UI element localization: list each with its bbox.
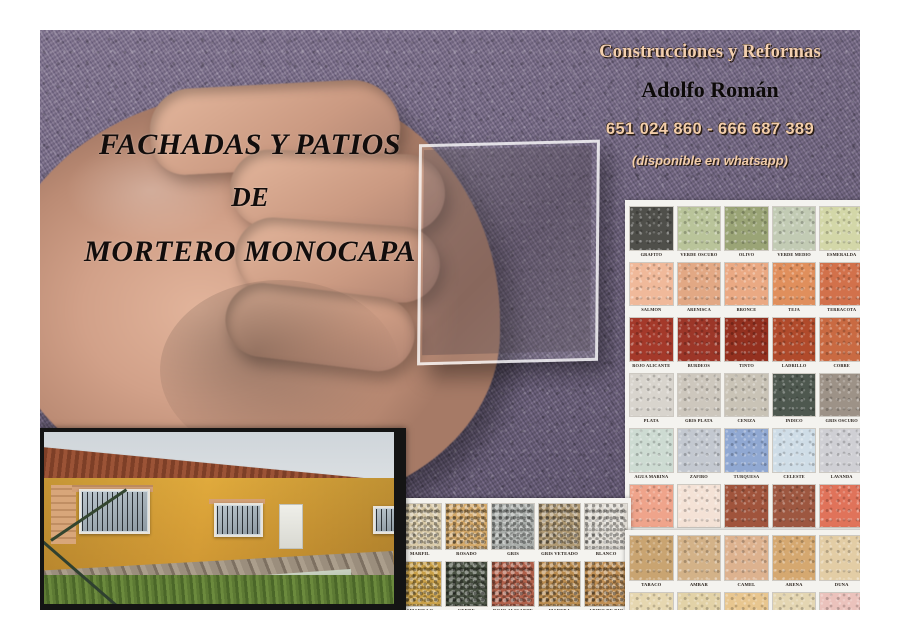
swatch-cell[interactable]: BRONCE [724,262,769,315]
color-swatch[interactable] [772,428,817,473]
color-swatch[interactable] [584,561,628,608]
swatch-cell[interactable]: VAINILLA [629,592,674,611]
swatch-label: ARIDO DE RIO [584,607,628,610]
swatch-label: TABACO [629,581,674,589]
swatch-row: PLATAGRIS PLATACENIZAINDICOGRIS OSCURO [629,373,860,426]
phone-numbers[interactable]: 651 024 860 - 666 687 389 [560,120,860,139]
color-swatch[interactable] [629,484,674,529]
color-swatch[interactable] [629,535,674,581]
swatch-cell[interactable]: INDICO [772,373,817,426]
swatch-cell[interactable]: SAHARA [724,592,769,611]
swatch-cell[interactable]: VERDE OSCURO [677,206,722,259]
swatch-cell[interactable]: VERDE MEDIO [772,206,817,259]
color-swatch[interactable] [677,428,722,473]
swatch-cell[interactable]: GRIS VETEADO [538,503,582,558]
color-swatch[interactable] [677,535,722,581]
color-swatch[interactable] [724,373,769,418]
color-swatch[interactable] [629,262,674,307]
swatch-row: MARFILROSADOGRISGRIS VETEADOBLANCO [398,503,628,558]
swatch-cell[interactable]: GRIS OSCURO [819,373,860,426]
color-swatch[interactable] [677,484,722,529]
sand-chart-grid: TABACOAMBARCAMELARENADUNAVAINILLAMARFILS… [629,535,860,610]
swatch-label: TINTO [724,362,769,370]
sand-chart-panel: TABACOAMBARCAMELARENADUNAVAINILLAMARFILS… [625,530,860,610]
swatch-cell[interactable]: ROSADO [677,484,722,537]
swatch-row: GRAFITOVERDE OSCUROOLIVOVERDE MEDIOESMER… [629,206,860,259]
swatch-cell[interactable]: GRANATE [724,484,769,537]
color-swatch[interactable] [819,262,860,307]
color-swatch[interactable] [491,561,535,608]
poster: FACHADAS Y PATIOS DE MORTERO MONOCAPA Co… [40,30,860,610]
color-swatch[interactable] [772,262,817,307]
color-swatch[interactable] [538,561,582,608]
swatch-label: TERRACOTA [819,306,860,314]
arid-chart-panel: MARFILROSADOGRISGRIS VETEADOBLANCOAMARIL… [395,498,631,610]
color-swatch[interactable] [772,592,817,611]
swatch-cell[interactable]: ESMERALDA [819,206,860,259]
swatch-label: ROJO ALICANTE [491,607,535,610]
swatch-label: CELESTE [772,473,817,481]
swatch-label: VERDE OSCURO [677,251,722,259]
company-owner-name: Adolfo Román [560,77,860,103]
swatch-label: BLANCO [584,550,628,558]
swatch-cell[interactable]: TEJA [772,262,817,315]
color-swatch[interactable] [772,373,817,418]
swatch-cell[interactable]: TINTO [724,317,769,370]
swatch-cell[interactable]: AGUA MARINA [629,428,674,481]
swatch-cell[interactable]: ROJO INGLES [772,484,817,537]
swatch-label: BRONCE [724,306,769,314]
color-swatch[interactable] [772,484,817,529]
swatch-label: ARENA [772,581,817,589]
contact-block: Construcciones y Reformas Adolfo Román 6… [560,42,860,168]
swatch-label: LAVANDA [819,473,860,481]
swatch-label: GRIS OSCURO [819,417,860,425]
swatch-label: ROSADO [445,550,489,558]
swatch-label: VERDE [445,607,489,610]
window [373,506,394,534]
swatch-label: PLATA [629,417,674,425]
swatch-label: ARENISCA [677,306,722,314]
swatch-label: TURQUESA [724,473,769,481]
color-swatch[interactable] [819,317,860,362]
swatch-cell[interactable]: VERDE [445,561,489,611]
swatch-cell[interactable]: CENIZA [724,373,769,426]
swatch-cell[interactable]: ROSA [819,592,860,611]
headline-line-1: FACHADAS Y PATIOS [50,130,450,160]
color-swatch[interactable] [677,317,722,362]
swatch-row: AMARILLOVERDEROJO ALICANTEMADERAARIDO DE… [398,561,628,611]
swatch-label: GRIS [491,550,535,558]
swatch-cell[interactable]: MARFIL [677,592,722,611]
color-swatch[interactable] [819,428,860,473]
swatch-cell[interactable]: GRAFITO [629,206,674,259]
color-swatch[interactable] [819,535,860,581]
color-swatch[interactable] [724,206,769,251]
swatch-cell[interactable]: ARIDO DE RIO [584,561,628,611]
color-swatch[interactable] [724,535,769,581]
color-swatch[interactable] [724,484,769,529]
whatsapp-note: (disponible en whatsapp) [560,153,860,168]
color-swatch[interactable] [772,317,817,362]
swatch-cell[interactable]: BURDEOS [677,317,722,370]
swatch-cell[interactable]: ARENISCA [677,262,722,315]
swatch-label: COBRE [819,362,860,370]
swatch-cell[interactable]: PIEDRA [772,592,817,611]
swatch-row: ROSAROSADOGRANATEROJO INGLESROJO [629,484,860,537]
swatch-row: TABACOAMBARCAMELARENADUNA [629,535,860,589]
swatch-cell[interactable]: ROJO ALICANTE [491,561,535,611]
swatch-label: VERDE MEDIO [772,251,817,259]
swatch-cell[interactable]: GRIS PLATA [677,373,722,426]
swatch-label: GRIS PLATA [677,417,722,425]
color-swatch[interactable] [677,206,722,251]
color-swatch[interactable] [629,373,674,418]
swatch-label: AGUA MARINA [629,473,674,481]
swatch-cell[interactable]: TERRACOTA [819,262,860,315]
swatch-cell[interactable]: GRIS [491,503,535,558]
swatch-label: SALMON [629,306,674,314]
door [279,504,304,549]
swatch-cell[interactable]: PLATA [629,373,674,426]
swatch-row: AGUA MARINAZAFIROTURQUESACELESTELAVANDA [629,428,860,481]
color-swatch[interactable] [445,503,489,550]
swatch-label: MADERA [538,607,582,610]
inset-photo-house [44,432,394,604]
company-tagline: Construcciones y Reformas [560,42,860,63]
swatch-cell[interactable]: ROJO ALICANTE [629,317,674,370]
color-swatch[interactable] [629,317,674,362]
swatch-label: GRIS VETEADO [538,550,582,558]
swatch-cell[interactable]: ARENA [772,535,817,589]
swatch-label: TEJA [772,306,817,314]
swatch-row: SALMONARENISCABRONCETEJATERRACOTA [629,262,860,315]
swatch-label: BURDEOS [677,362,722,370]
swatch-label: ROJO ALICANTE [629,362,674,370]
color-chart-grid: GRAFITOVERDE OSCUROOLIVOVERDE MEDIOESMER… [629,206,860,536]
headline-line-2: DE [50,184,450,211]
swatch-cell[interactable]: AMBAR [677,535,722,589]
swatch-cell[interactable]: TABACO [629,535,674,589]
arid-chart-grid: MARFILROSADOGRISGRIS VETEADOBLANCOAMARIL… [398,503,628,610]
color-swatch[interactable] [724,262,769,307]
swatch-label: ESMERALDA [819,251,860,259]
swatch-label: GRAFITO [629,251,674,259]
page-title: FACHADAS Y PATIOS DE MORTERO MONOCAPA [50,130,450,267]
swatch-label: INDICO [772,417,817,425]
color-swatch[interactable] [491,503,535,550]
color-swatch[interactable] [819,592,860,611]
swatch-row: ROJO ALICANTEBURDEOSTINTOLADRILLOCOBRE [629,317,860,370]
swatch-cell[interactable]: ROJO [819,484,860,537]
color-swatch[interactable] [677,592,722,611]
color-chart-panel: GRAFITOVERDE OSCUROOLIVOVERDE MEDIOESMER… [625,200,860,538]
swatch-label: DUNA [819,581,860,589]
swatch-cell[interactable]: DUNA [819,535,860,589]
swatch-cell[interactable]: LADRILLO [772,317,817,370]
color-swatch[interactable] [538,503,582,550]
color-swatch[interactable] [677,262,722,307]
swatch-row: VAINILLAMARFILSAHARAPIEDRAROSA [629,592,860,611]
color-swatch[interactable] [724,592,769,611]
color-swatch[interactable] [819,484,860,529]
swatch-cell[interactable]: COBRE [819,317,860,370]
swatch-cell[interactable]: SALMON [629,262,674,315]
color-swatch[interactable] [772,535,817,581]
color-swatch[interactable] [629,428,674,473]
swatch-cell[interactable]: CAMEL [724,535,769,589]
swatch-cell[interactable]: LAVANDA [819,428,860,481]
swatch-cell[interactable]: CELESTE [772,428,817,481]
swatch-label: LADRILLO [772,362,817,370]
color-swatch[interactable] [584,503,628,550]
swatch-cell[interactable]: TURQUESA [724,428,769,481]
window [214,503,264,538]
swatch-label: OLIVO [724,251,769,259]
color-swatch[interactable] [724,317,769,362]
swatch-cell[interactable]: ROSA [629,484,674,537]
color-swatch[interactable] [629,592,674,611]
color-swatch[interactable] [629,206,674,251]
swatch-cell[interactable]: ROSADO [445,503,489,558]
inset-photo-frame [40,428,406,610]
swatch-label: AMBAR [677,581,722,589]
swatch-label: ZAFIRO [677,473,722,481]
swatch-cell[interactable]: BLANCO [584,503,628,558]
swatch-cell[interactable]: OLIVO [724,206,769,259]
color-swatch[interactable] [819,206,860,251]
color-swatch[interactable] [772,206,817,251]
color-swatch[interactable] [819,373,860,418]
color-swatch[interactable] [724,428,769,473]
headline-line-3: MORTERO MONOCAPA [50,237,450,267]
swatch-cell[interactable]: MADERA [538,561,582,611]
swatch-label: CAMEL [724,581,769,589]
swatch-label: CENIZA [724,417,769,425]
swatch-cell[interactable]: ZAFIRO [677,428,722,481]
color-swatch[interactable] [445,561,489,608]
color-swatch[interactable] [677,373,722,418]
